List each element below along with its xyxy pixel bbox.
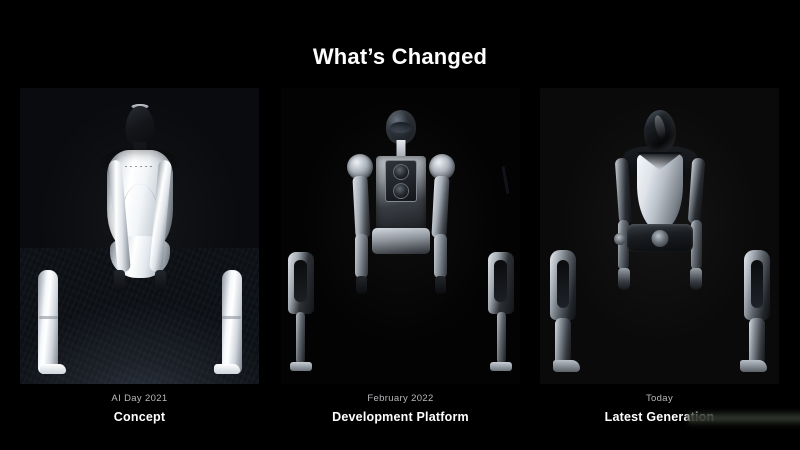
robot-panel-concept[interactable] bbox=[20, 88, 259, 384]
robot-left-leg bbox=[222, 270, 242, 374]
robot-right-foot bbox=[553, 360, 580, 372]
robot-right-foot bbox=[290, 362, 312, 371]
robot-left-foot bbox=[740, 360, 767, 372]
robot-panel-development-platform[interactable] bbox=[281, 88, 520, 384]
caption-name: Latest Generation bbox=[540, 408, 779, 426]
robot-left-forearm bbox=[434, 234, 447, 278]
presentation-slide: What’s Changed bbox=[0, 0, 800, 450]
robot-left-hand bbox=[155, 270, 166, 292]
robot-left-thigh bbox=[744, 250, 770, 320]
robot-left-hand bbox=[690, 268, 702, 290]
robot-right-hand bbox=[618, 268, 630, 290]
robot-hip-actuator-side bbox=[614, 233, 626, 245]
robot-right-thigh bbox=[288, 252, 314, 314]
robot-left-shin bbox=[497, 312, 506, 364]
robot-wiring bbox=[501, 166, 509, 194]
robot-left-foot bbox=[214, 364, 240, 374]
robot-right-hand bbox=[114, 270, 125, 292]
robot-pelvis bbox=[372, 228, 430, 254]
robot-left-foot bbox=[490, 362, 512, 371]
robot-right-shin bbox=[555, 318, 571, 366]
caption-latest-generation: Today Latest Generation bbox=[540, 392, 779, 426]
caption-date: Today bbox=[540, 392, 779, 406]
robot-right-foot bbox=[40, 364, 66, 374]
robot-right-shin bbox=[296, 312, 305, 364]
robot-comparison-gallery bbox=[20, 88, 780, 384]
caption-date: February 2022 bbox=[281, 392, 520, 406]
caption-name: Concept bbox=[20, 408, 259, 426]
robot-left-shin bbox=[749, 318, 765, 366]
robot-right-thigh bbox=[550, 250, 576, 320]
robot-right-leg bbox=[38, 270, 58, 374]
caption-name: Development Platform bbox=[281, 408, 520, 426]
robot-panel-latest-generation[interactable] bbox=[540, 88, 779, 384]
robot-right-forearm bbox=[355, 234, 368, 278]
caption-development-platform: February 2022 Development Platform bbox=[281, 392, 520, 426]
robot-left-hand bbox=[435, 276, 446, 294]
robot-right-arm bbox=[352, 176, 370, 239]
robot-fan-upper bbox=[393, 164, 409, 180]
caption-date: AI Day 2021 bbox=[20, 392, 259, 406]
caption-concept: AI Day 2021 Concept bbox=[20, 392, 259, 426]
robot-right-hand bbox=[356, 276, 367, 294]
page-title: What’s Changed bbox=[0, 44, 800, 70]
robot-fan-lower bbox=[393, 183, 409, 199]
robot-left-thigh bbox=[488, 252, 514, 314]
robot-left-arm bbox=[431, 176, 449, 239]
robot-visor bbox=[390, 122, 412, 133]
panel-captions: AI Day 2021 Concept February 2022 Develo… bbox=[20, 392, 780, 432]
robot-hip-actuator bbox=[651, 230, 668, 247]
